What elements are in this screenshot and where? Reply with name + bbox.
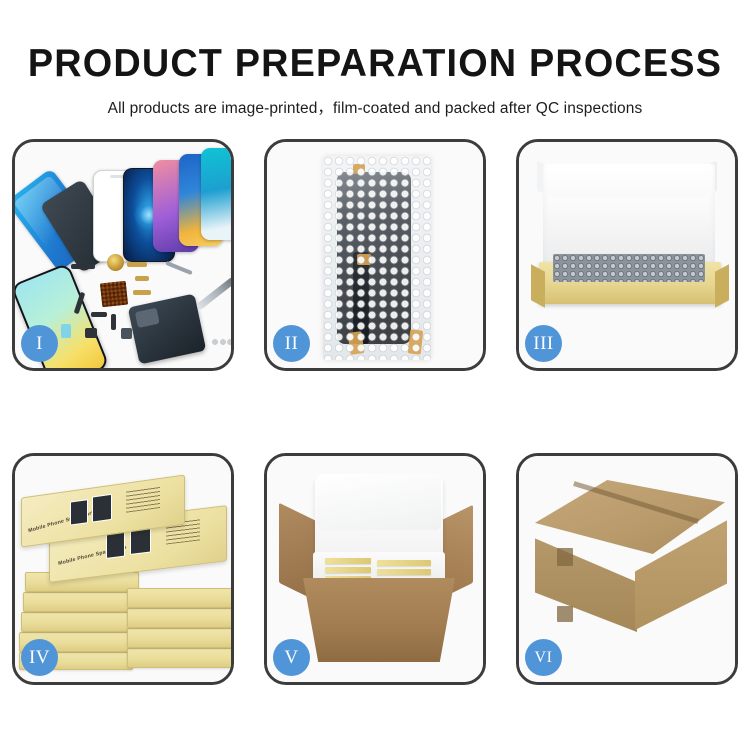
process-step-panel-2: II [264,139,486,371]
kraft-box-icon [127,648,231,668]
part-icon [61,324,71,338]
bubble-wrap-bag-icon [323,156,431,360]
yellow-box-icon [325,567,371,573]
kraft-box-icon [21,612,135,632]
process-step-panel-6: VI [516,453,738,685]
kraft-box-icon [127,628,231,648]
process-step-grid: I II [12,139,738,685]
yellow-box-icon [377,560,431,566]
kraft-box-icon [127,588,231,608]
yellow-box-icon [377,569,431,575]
page-header: PRODUCT PREPARATION PROCESS All products… [0,0,750,118]
screwdriver-icon [196,277,231,311]
part-icon [133,290,151,295]
kraft-box-icon [23,592,137,612]
chip-board-icon [100,281,128,308]
screen-print-icon [70,499,88,526]
tape-strip-icon [557,548,573,566]
process-step-panel-4: Mobile Phone Spare Parts Mobile Phone Sp… [12,453,234,685]
tape-strip-icon [557,606,573,622]
page-title: PRODUCT PREPARATION PROCESS [11,0,739,85]
process-step-panel-5: V [264,453,486,685]
step-badge-4: IV [21,639,58,676]
part-icon [111,314,116,330]
step-badge-6: VI [525,639,562,676]
process-step-panel-3: III [516,139,738,371]
part-icon [121,328,132,339]
step-badge-3: III [525,325,562,362]
phone-teal-icon [201,148,231,240]
screen-print-icon [92,494,112,523]
part-icon [165,261,192,275]
phone-back-housing-icon [128,294,207,365]
bubble-wrap-contents-icon [553,254,705,282]
foam-lid-icon [317,474,441,530]
step-badge-1: I [21,325,58,362]
product-preparation-page: PRODUCT PREPARATION PROCESS All products… [0,0,750,750]
screws-icon [211,338,231,346]
part-icon [71,264,95,269]
part-icon [135,276,149,281]
step-badge-2: II [273,325,310,362]
carton-body-icon [303,578,455,662]
spec-lines-icon [126,486,160,513]
bubble-texture-icon [323,156,431,360]
process-step-panel-1: I [12,139,234,371]
kraft-box-icon [127,608,231,628]
page-subtitle: All products are image-printed，film-coat… [0,85,750,118]
gold-coil-icon [107,254,124,271]
part-icon [127,262,147,267]
yellow-box-icon [325,558,371,564]
foam-liner-icon [549,198,709,260]
step-badge-5: V [273,639,310,676]
part-icon [91,312,107,317]
part-icon [85,328,97,338]
